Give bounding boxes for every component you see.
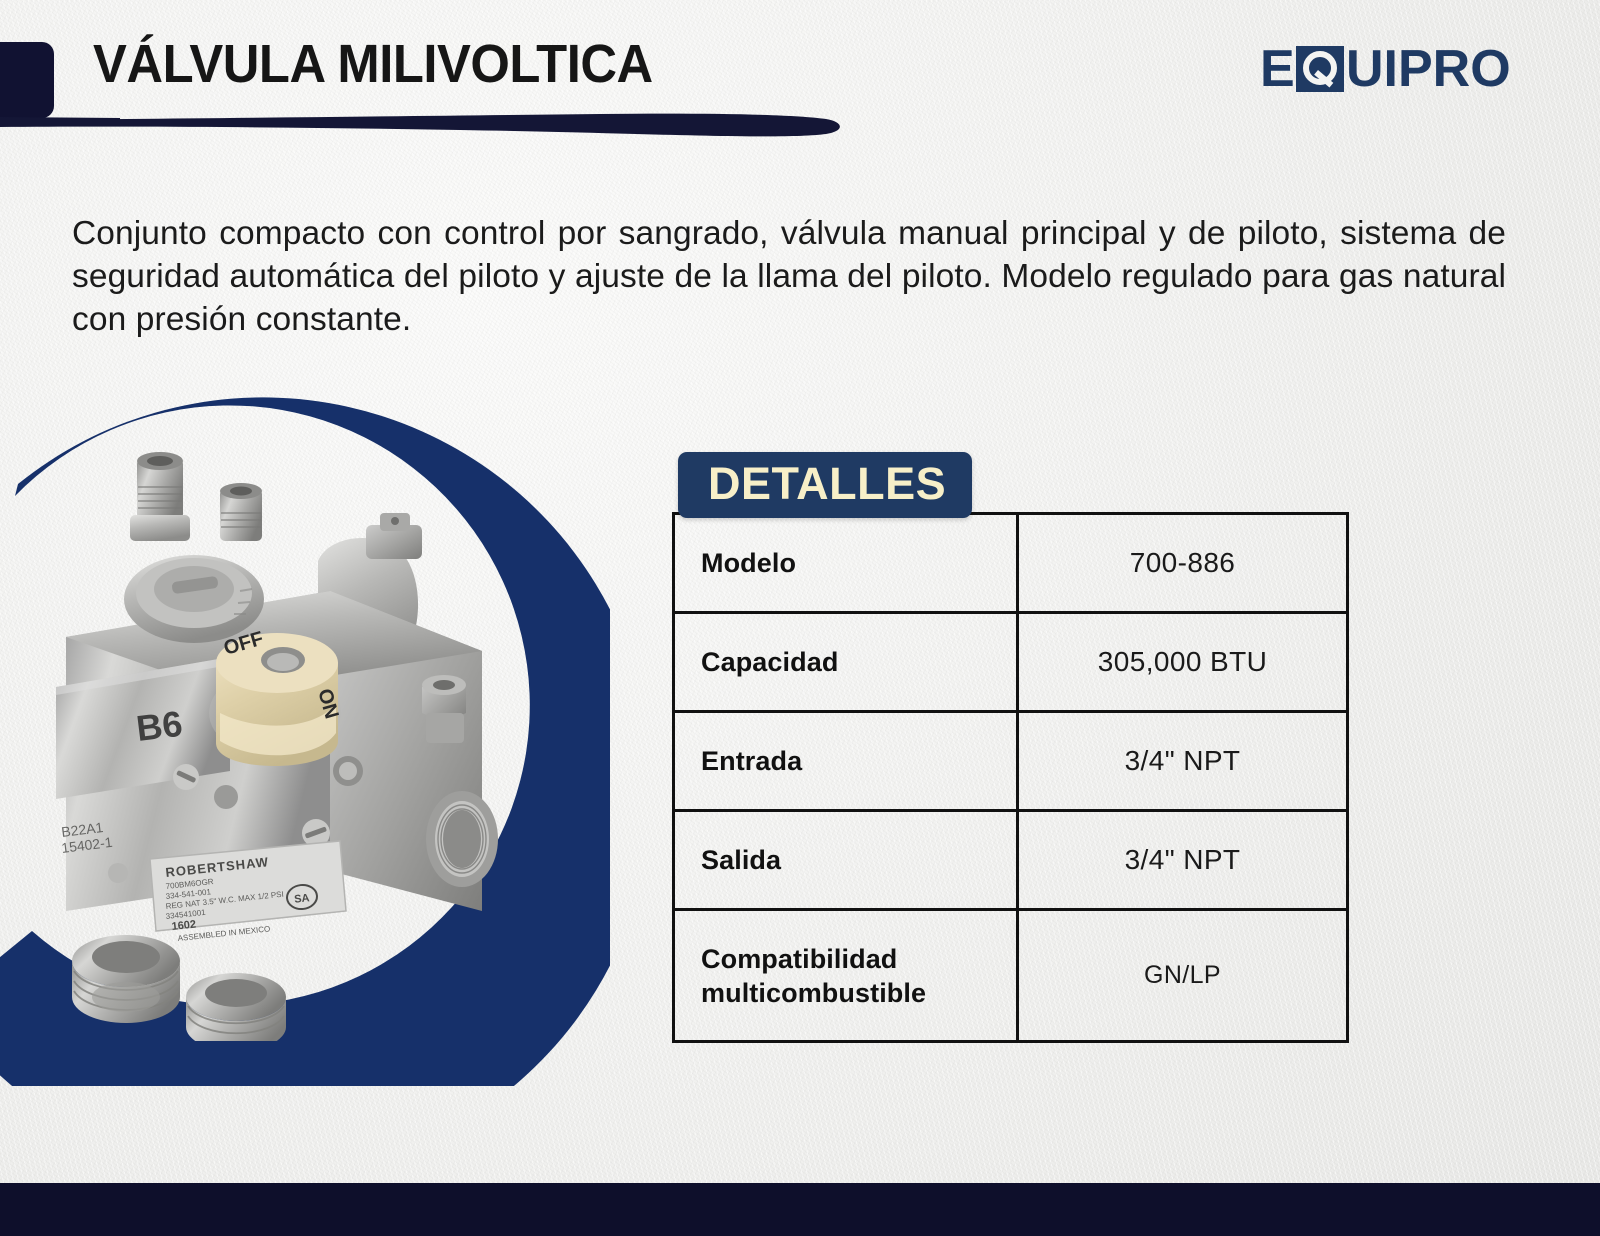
specifications-table: Modelo 700-886 Capacidad 305,000 BTU Ent… (672, 512, 1349, 1043)
footer-bar (0, 1183, 1600, 1236)
spec-label-capacidad: Capacidad (675, 645, 1016, 679)
spec-value-capacidad: 305,000 BTU (1019, 646, 1346, 678)
spec-value-entrada: 3/4" NPT (1019, 745, 1346, 777)
spec-label-compatibilidad: Compatibilidad multicombustible (675, 942, 1016, 1010)
svg-text:1602: 1602 (171, 918, 197, 932)
valve-top-nipple-right (220, 483, 262, 541)
table-row: Capacidad 305,000 BTU (674, 613, 1348, 712)
spec-label-cell: Compatibilidad multicombustible (674, 910, 1018, 1042)
product-photo-gas-valve: B6 B22A1 15402-1 OFF ON (30, 441, 530, 1041)
spec-value-compatibilidad: GN/LP (1019, 961, 1346, 990)
product-image-area: B6 B22A1 15402-1 OFF ON (0, 386, 610, 1086)
product-spec-sheet: VÁLVULA MILIVOLTICA E UIPRO Conjunto com… (0, 0, 1600, 1236)
spec-label-modelo: Modelo (675, 546, 1016, 580)
spec-value-cell: 3/4" NPT (1018, 712, 1348, 811)
product-description-text: Conjunto compacto con control por sangra… (72, 215, 1506, 338)
svg-text:UIPRO: UIPRO (1346, 42, 1511, 98)
spec-value-cell: 700-886 (1018, 514, 1348, 613)
table-row: Entrada 3/4" NPT (674, 712, 1348, 811)
svg-text:E: E (1260, 42, 1295, 98)
table-row: Salida 3/4" NPT (674, 811, 1348, 910)
spec-value-salida: 3/4" NPT (1019, 844, 1346, 876)
valve-top-nipple-left (130, 452, 190, 541)
spec-label-compatibilidad-line2: multicombustible (701, 976, 1016, 1010)
valve-adjust-dial (124, 555, 264, 643)
spec-label-compatibilidad-line1: Compatibilidad (701, 942, 1016, 976)
threaded-bushing-left (72, 935, 180, 1023)
valve-spec-label: ROBERTSHAW 700BM6OGR 334-541-001 REG NAT… (150, 841, 346, 943)
spec-label-salida: Salida (675, 843, 1016, 877)
svg-text:B6: B6 (134, 703, 185, 749)
spec-value-cell: 305,000 BTU (1018, 613, 1348, 712)
spec-label-cell: Modelo (674, 514, 1018, 613)
svg-text:SA: SA (294, 892, 311, 906)
spec-value-modelo: 700-886 (1019, 547, 1346, 579)
table-row: Compatibilidad multicombustible GN/LP (674, 910, 1348, 1042)
spec-label-cell: Salida (674, 811, 1018, 910)
brand-logo-equipro: E UIPRO (1260, 42, 1512, 98)
table-row: Modelo 700-886 (674, 514, 1348, 613)
valve-hex-fitting (422, 675, 466, 743)
spec-label-cell: Capacidad (674, 613, 1018, 712)
page-title: VÁLVULA MILIVOLTICA (93, 33, 653, 95)
threaded-bushing-right (186, 973, 286, 1041)
product-description: Conjunto compacto con control por sangra… (72, 212, 1506, 341)
spec-value-cell: 3/4" NPT (1018, 811, 1348, 910)
valve-onoff-knob: OFF ON (209, 628, 343, 766)
details-badge-label: DETALLES (708, 461, 946, 506)
spec-label-entrada: Entrada (675, 744, 1016, 778)
spec-label-cell: Entrada (674, 712, 1018, 811)
spec-value-cell: GN/LP (1018, 910, 1348, 1042)
header-swoosh-divider (0, 103, 850, 143)
details-badge: DETALLES (678, 452, 972, 518)
valve-outlet-port (426, 791, 498, 887)
